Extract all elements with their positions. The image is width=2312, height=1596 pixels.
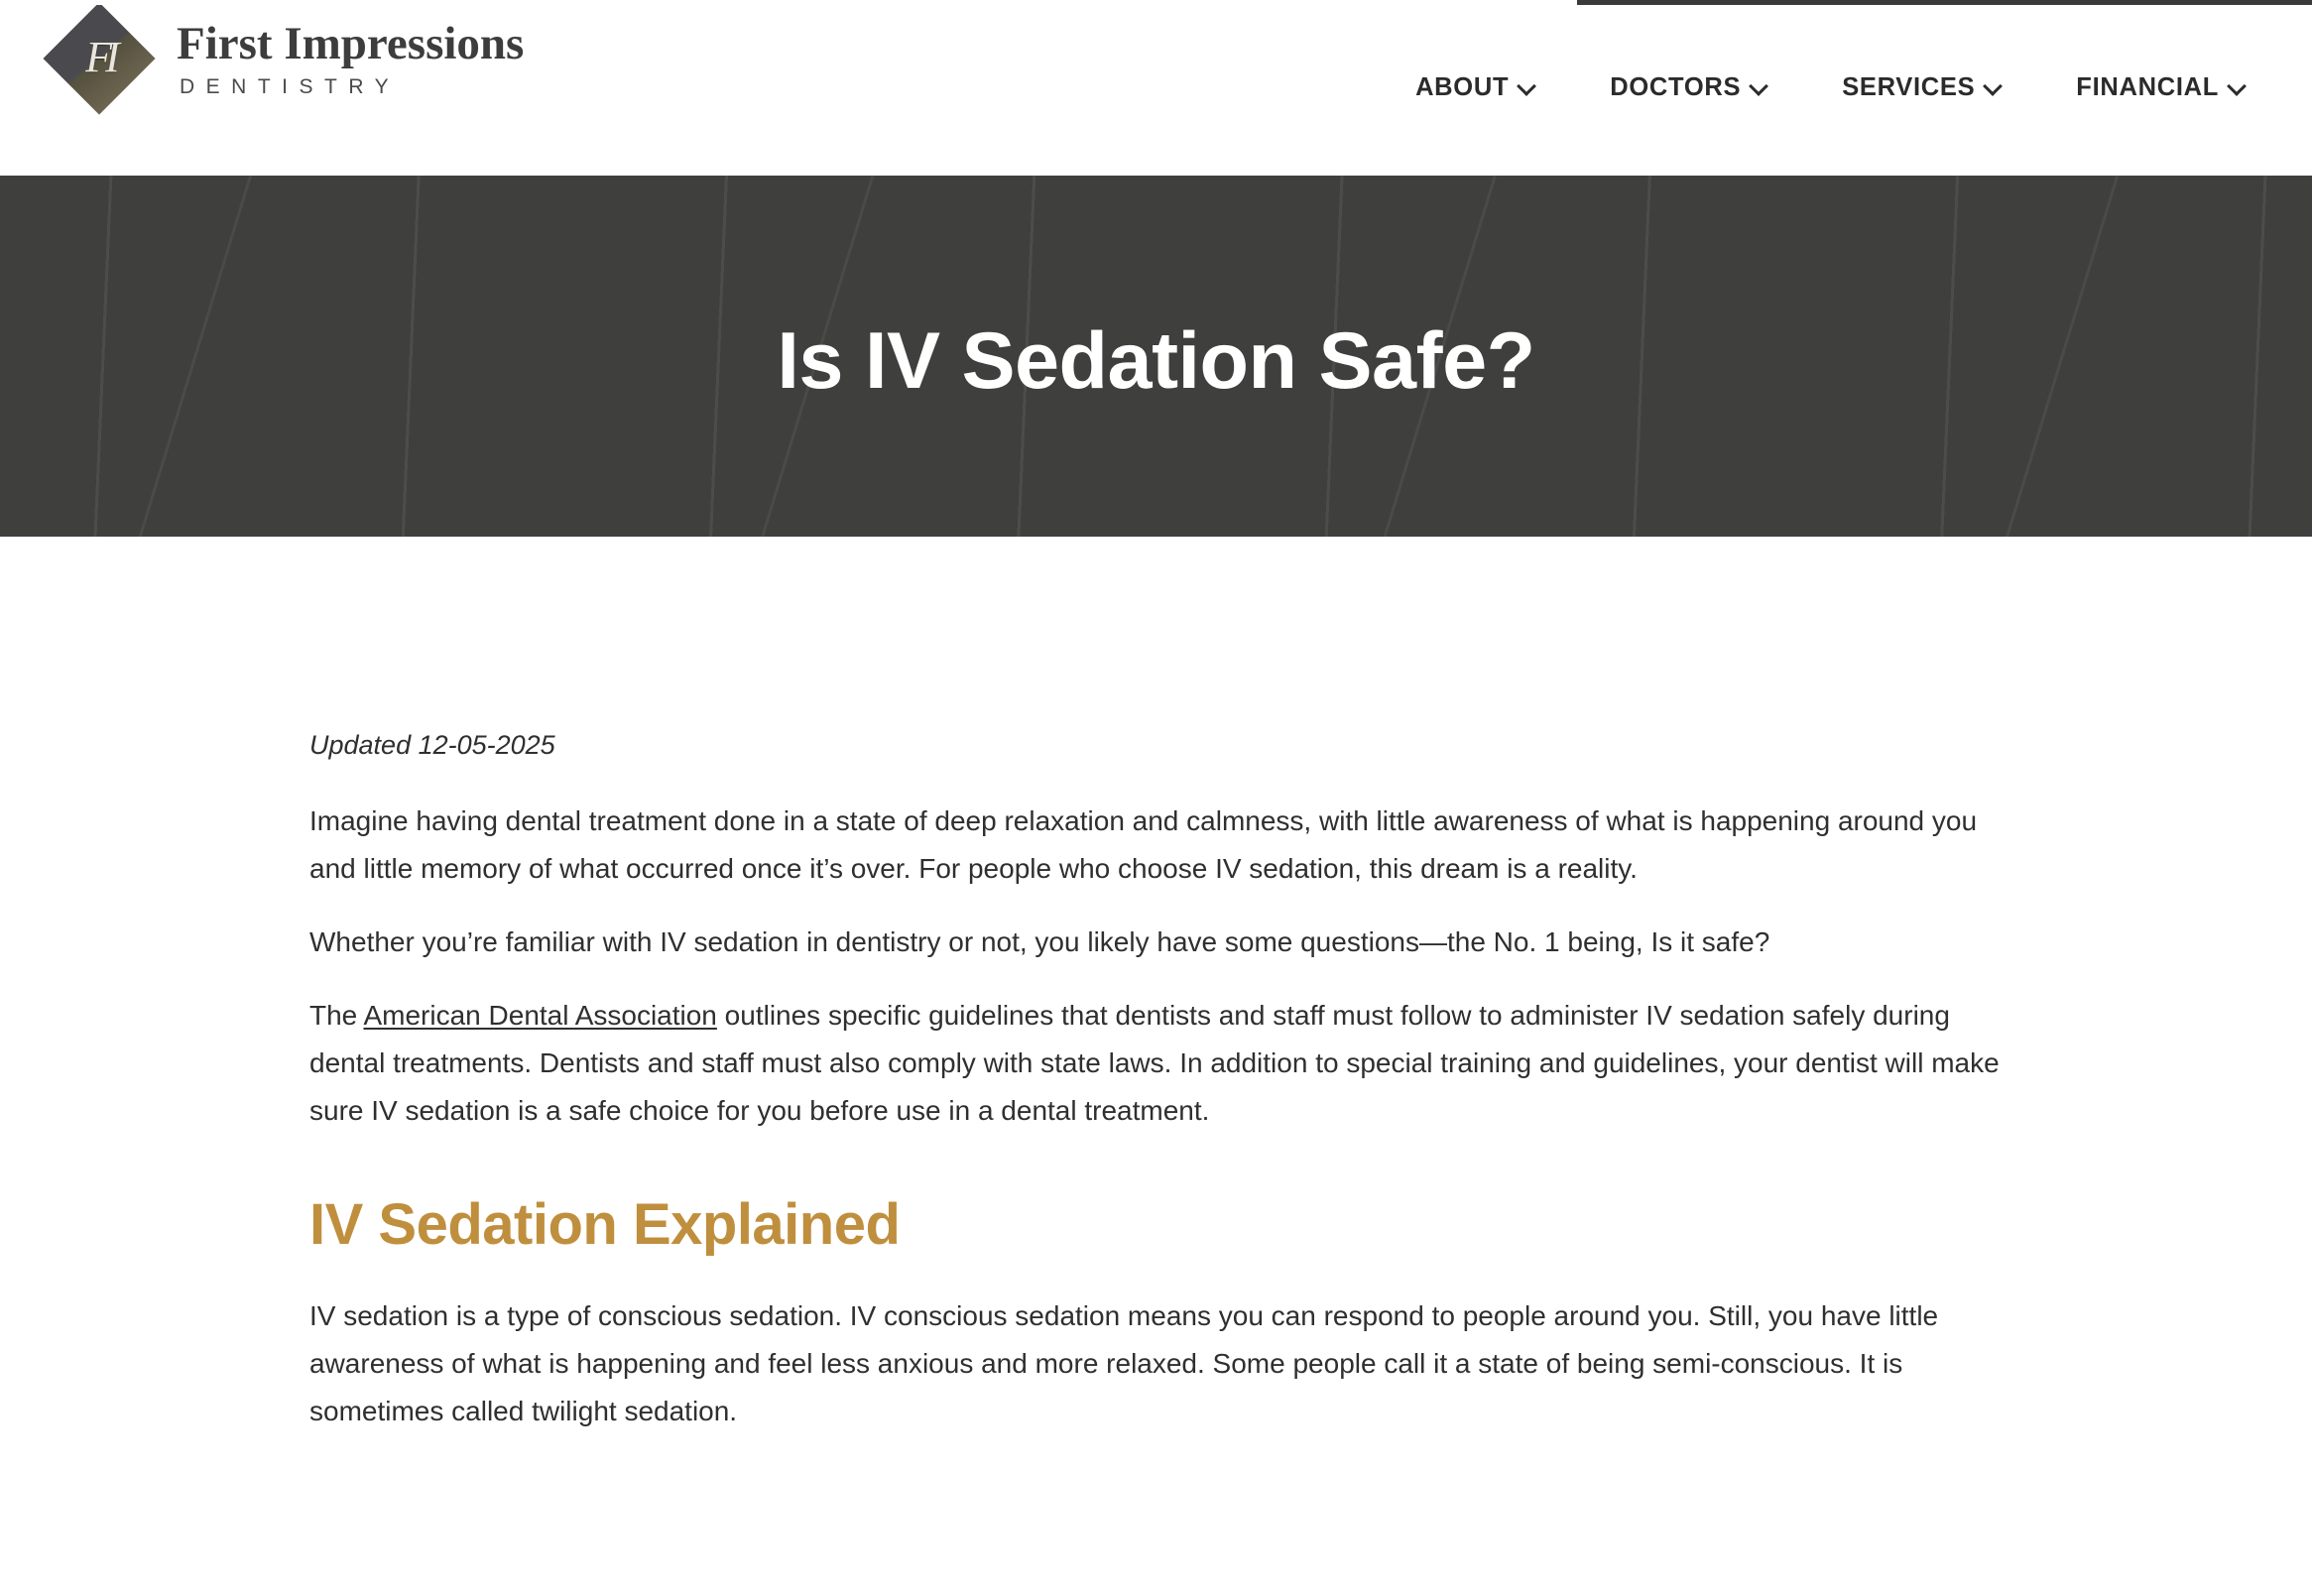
nav-item-about[interactable]: ABOUT bbox=[1378, 73, 1572, 102]
chevron-down-icon bbox=[1751, 78, 1766, 94]
chevron-down-icon bbox=[1519, 78, 1534, 94]
paragraph-3-lead-text: The bbox=[309, 1000, 363, 1031]
article-paragraph-3: The American Dental Association outlines… bbox=[309, 992, 2003, 1135]
american-dental-association-link[interactable]: American Dental Association bbox=[363, 1000, 716, 1031]
page-load-progress-fill bbox=[1577, 0, 2312, 5]
brand-text-block: First Impressions DENTISTRY bbox=[177, 18, 524, 99]
page-title: Is IV Sedation Safe? bbox=[0, 176, 2312, 537]
updated-timestamp: Updated 12-05-2025 bbox=[309, 725, 2003, 766]
chevron-down-icon bbox=[2229, 78, 2245, 94]
diamond-logo-icon: FI bbox=[44, 3, 155, 114]
chevron-down-icon bbox=[1985, 78, 2001, 94]
nav-item-services[interactable]: SERVICES bbox=[1804, 73, 2038, 102]
nav-item-about-label: ABOUT bbox=[1415, 73, 1509, 102]
brand-name: First Impressions bbox=[177, 20, 524, 68]
article-paragraph-4: IV sedation is a type of conscious sedat… bbox=[309, 1292, 2003, 1435]
nav-item-financial-label: FINANCIAL bbox=[2076, 73, 2219, 102]
brand-logo-link[interactable]: FI First Impressions DENTISTRY bbox=[44, 3, 524, 114]
nav-item-services-label: SERVICES bbox=[1842, 73, 1975, 102]
brand-tagline: DENTISTRY bbox=[177, 68, 524, 99]
article-inner-column: Updated 12-05-2025 Imagine having dental… bbox=[309, 537, 2003, 1436]
site-header: FI First Impressions DENTISTRY ABOUT DOC… bbox=[0, 5, 2312, 171]
article-content: Updated 12-05-2025 Imagine having dental… bbox=[0, 537, 2312, 1462]
article-paragraph-2: Whether you’re familiar with IV sedation… bbox=[309, 919, 2003, 966]
page-load-progress-track bbox=[0, 0, 2312, 5]
article-paragraph-1: Imagine having dental treatment done in … bbox=[309, 798, 2003, 893]
nav-item-financial[interactable]: FINANCIAL bbox=[2038, 73, 2282, 102]
monogram-text: FI bbox=[44, 3, 155, 114]
main-navigation: ABOUT DOCTORS SERVICES FINANCIAL bbox=[1378, 5, 2282, 171]
nav-item-doctors-label: DOCTORS bbox=[1610, 73, 1741, 102]
nav-item-doctors[interactable]: DOCTORS bbox=[1572, 73, 1804, 102]
section-heading-iv-sedation-explained: IV Sedation Explained bbox=[309, 1192, 2003, 1259]
hero-banner: Is IV Sedation Safe? bbox=[0, 176, 2312, 537]
